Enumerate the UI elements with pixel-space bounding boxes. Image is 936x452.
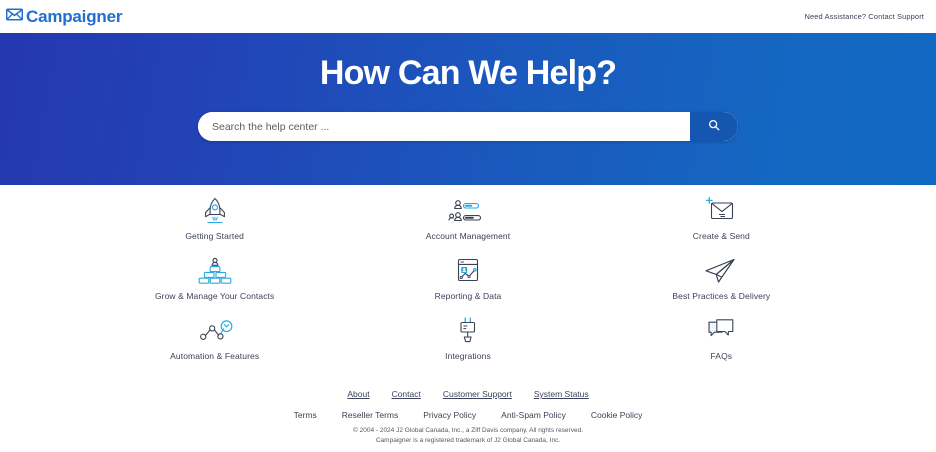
search-button[interactable] [690, 112, 738, 141]
category-label: Getting Started [185, 231, 244, 241]
category-account-management[interactable]: Account Management [341, 195, 594, 255]
rocket-icon [199, 195, 231, 227]
legal-text: © 2004 - 2024 J2 Global Canada, Inc., a … [353, 426, 583, 446]
trademark-line: Campaigner is a registered trademark of … [353, 436, 583, 446]
brand-logo[interactable]: Campaigner [6, 8, 122, 26]
category-label: FAQs [710, 351, 732, 361]
category-reporting-data[interactable]: Reporting & Data [341, 255, 594, 315]
top-bar: Campaigner Need Assistance? Contact Supp… [0, 0, 936, 33]
category-grow-manage-contacts[interactable]: Grow & Manage Your Contacts [88, 255, 341, 315]
category-create-and-send[interactable]: Create & Send [595, 195, 848, 255]
paper-plane-icon [701, 255, 741, 287]
search-input[interactable] [198, 112, 690, 141]
footer-link-privacy-policy[interactable]: Privacy Policy [423, 410, 476, 420]
plug-icon [454, 315, 482, 347]
contact-support-link[interactable]: Need Assistance? Contact Support [804, 12, 924, 21]
copyright-line: © 2004 - 2024 J2 Global Canada, Inc., a … [353, 426, 583, 436]
workflow-nodes-icon [195, 315, 235, 347]
category-integrations[interactable]: Integrations [341, 315, 594, 375]
category-faqs[interactable]: FAQs [595, 315, 848, 375]
search-icon [708, 119, 720, 134]
category-getting-started[interactable]: Getting Started [88, 195, 341, 255]
footer: About Contact Customer Support System St… [0, 389, 936, 446]
envelope-icon [6, 8, 23, 26]
category-label: Account Management [426, 231, 511, 241]
category-label: Automation & Features [170, 351, 259, 361]
footer-link-about[interactable]: About [347, 389, 369, 399]
search-bar [198, 112, 738, 141]
category-label: Reporting & Data [435, 291, 502, 301]
envelope-plus-icon [702, 195, 740, 227]
footer-link-contact[interactable]: Contact [392, 389, 421, 399]
brand-name: Campaigner [26, 8, 122, 25]
footer-link-terms[interactable]: Terms [294, 410, 317, 420]
category-automation-features[interactable]: Automation & Features [88, 315, 341, 375]
category-best-practices-delivery[interactable]: Best Practices & Delivery [595, 255, 848, 315]
footer-secondary-links: Terms Reseller Terms Privacy Policy Anti… [294, 410, 643, 420]
hero-banner: How Can We Help? [0, 33, 936, 185]
footer-link-cookie-policy[interactable]: Cookie Policy [591, 410, 643, 420]
category-label: Create & Send [693, 231, 750, 241]
users-list-icon [448, 195, 488, 227]
pyramid-blocks-icon [198, 255, 232, 287]
category-label: Grow & Manage Your Contacts [155, 291, 274, 301]
chart-window-icon [452, 255, 484, 287]
footer-primary-links: About Contact Customer Support System St… [347, 389, 588, 399]
category-grid: Getting Started Account Management [88, 185, 848, 375]
footer-link-anti-spam-policy[interactable]: Anti-Spam Policy [501, 410, 566, 420]
footer-link-customer-support[interactable]: Customer Support [443, 389, 512, 399]
speech-bubbles-icon [704, 315, 738, 347]
footer-link-reseller-terms[interactable]: Reseller Terms [342, 410, 399, 420]
category-label: Best Practices & Delivery [672, 291, 770, 301]
footer-link-system-status[interactable]: System Status [534, 389, 589, 399]
page-title: How Can We Help? [320, 33, 616, 92]
category-label: Integrations [445, 351, 491, 361]
